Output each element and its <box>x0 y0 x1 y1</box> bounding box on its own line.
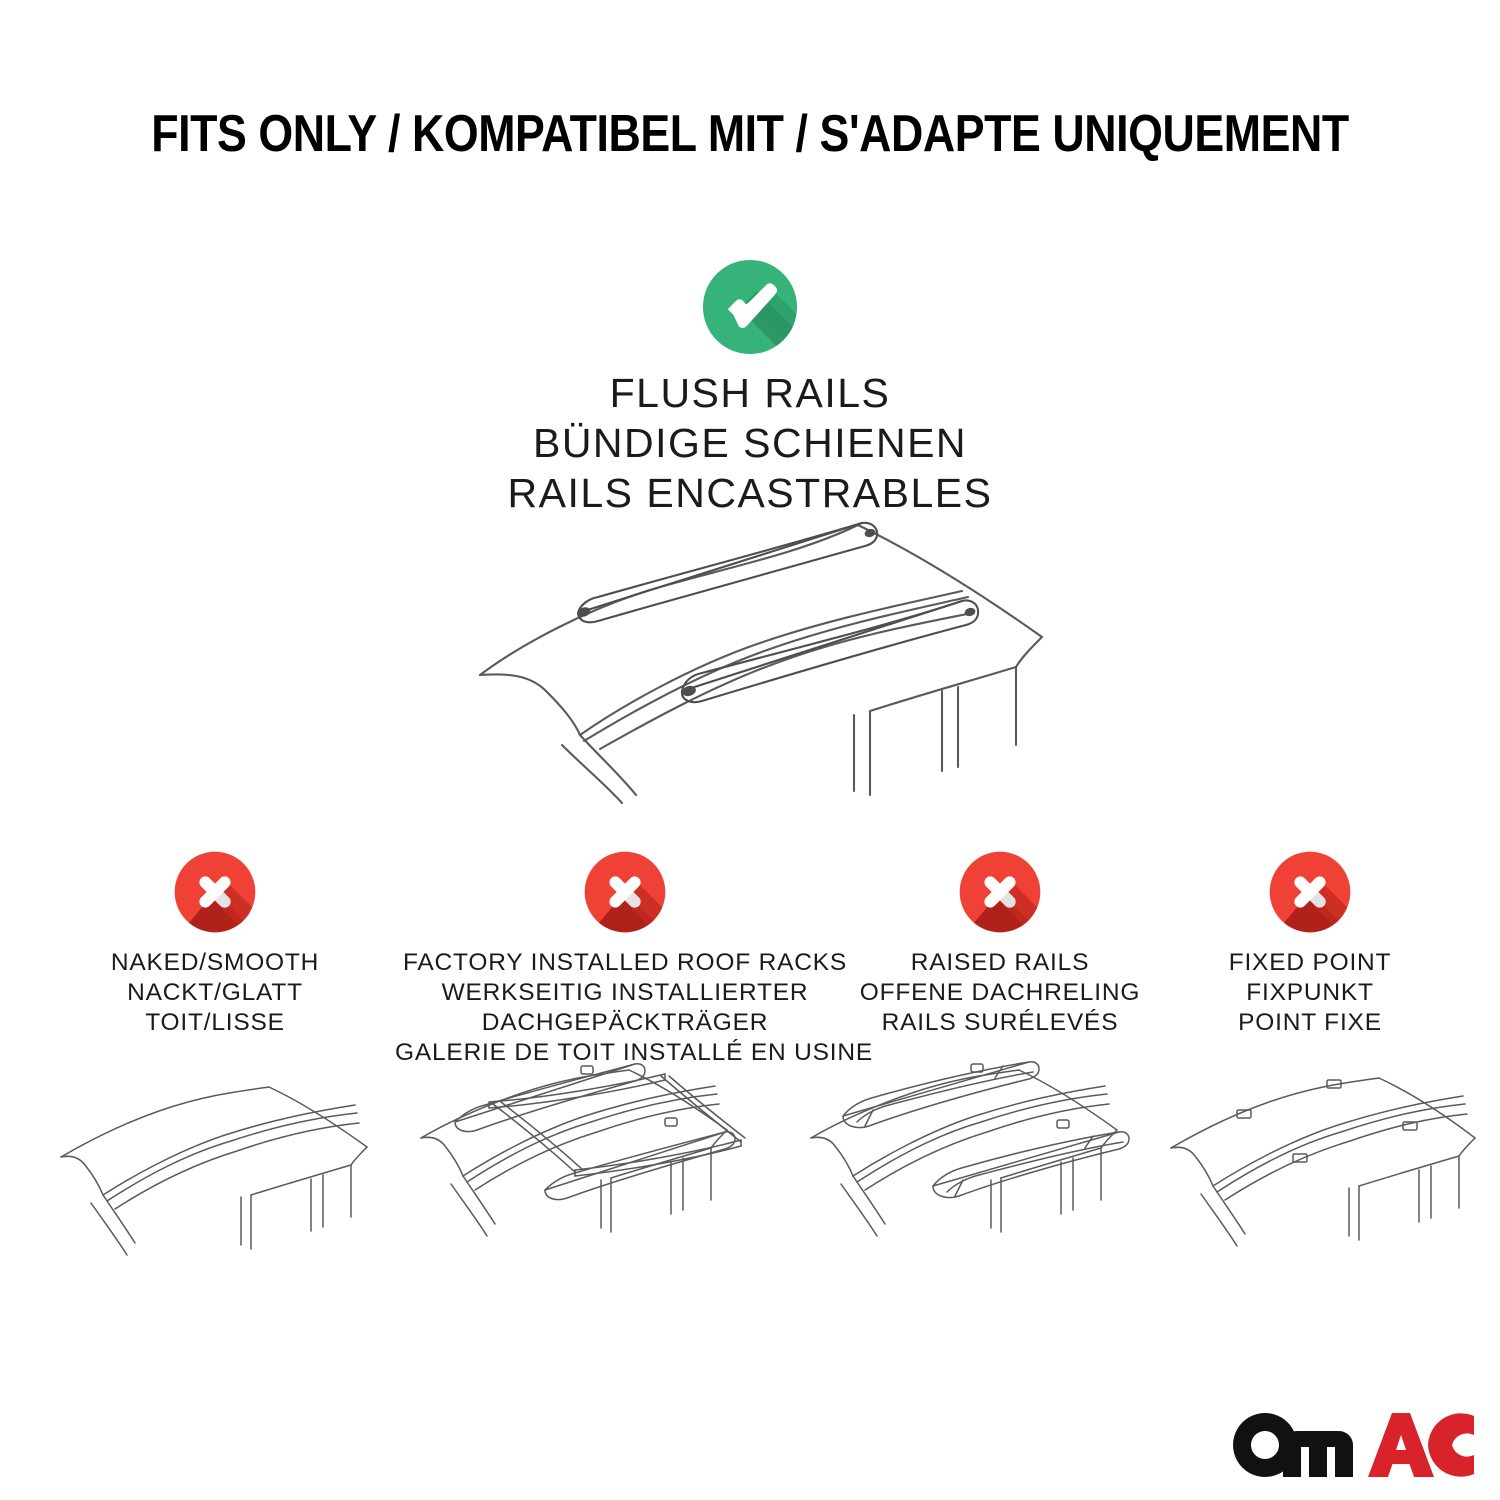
compatibility-infographic: FITS ONLY / KOMPATIBEL MIT / S'ADAPTE UN… <box>0 0 1500 1500</box>
label-en: FIXED POINT <box>1165 948 1455 978</box>
label-de: FIXPUNKT <box>1165 978 1455 1008</box>
red-x-icon <box>583 850 667 934</box>
incompatible-label-factory-racks: FACTORY INSTALLED ROOF RACKS WERKSEITIG … <box>395 948 855 1068</box>
incompatible-label-naked: NAKED/SMOOTH NACKT/GLATT TOIT/LISSE <box>55 948 375 1038</box>
label-en: NAKED/SMOOTH <box>55 948 375 978</box>
label-fr: POINT FIXE <box>1165 1008 1455 1038</box>
incompatible-item-factory-racks: FACTORY INSTALLED ROOF RACKS WERKSEITIG … <box>395 850 855 1068</box>
incompatible-label-fixed-point: FIXED POINT FIXPUNKT POINT FIXE <box>1165 948 1455 1038</box>
label-de-1: WERKSEITIG INSTALLIERTER <box>395 978 855 1008</box>
incompatible-item-raised-rails: RAISED RAILS OFFENE DACHRELING RAILS SUR… <box>840 850 1160 1038</box>
label-en: FACTORY INSTALLED ROOF RACKS <box>395 948 855 978</box>
incompatible-label-raised-rails: RAISED RAILS OFFENE DACHRELING RAILS SUR… <box>840 948 1160 1038</box>
car-roof-raised-rails-diagram <box>805 1060 1155 1290</box>
incompatible-item-fixed-point: FIXED POINT FIXPUNKT POINT FIXE <box>1165 850 1455 1038</box>
label-fr: RAILS SURÉLEVÉS <box>840 1008 1160 1038</box>
label-de: NACKT/GLATT <box>55 978 375 1008</box>
label-de-2: DACHGEPÄCKTRÄGER <box>395 1008 855 1038</box>
red-x-icon <box>958 850 1042 934</box>
car-roof-fixed-point-diagram <box>1165 1060 1495 1290</box>
label-fr: TOIT/LISSE <box>55 1008 375 1038</box>
red-x-icon <box>1268 850 1352 934</box>
car-roof-naked-diagram <box>55 1065 395 1290</box>
incompatible-item-naked: NAKED/SMOOTH NACKT/GLATT TOIT/LISSE <box>55 850 375 1038</box>
red-x-icon <box>173 850 257 934</box>
label-en: RAISED RAILS <box>840 948 1160 978</box>
car-roof-factory-racks-diagram <box>415 1060 765 1290</box>
label-de: OFFENE DACHRELING <box>840 978 1160 1008</box>
omac-logo <box>1232 1412 1474 1478</box>
